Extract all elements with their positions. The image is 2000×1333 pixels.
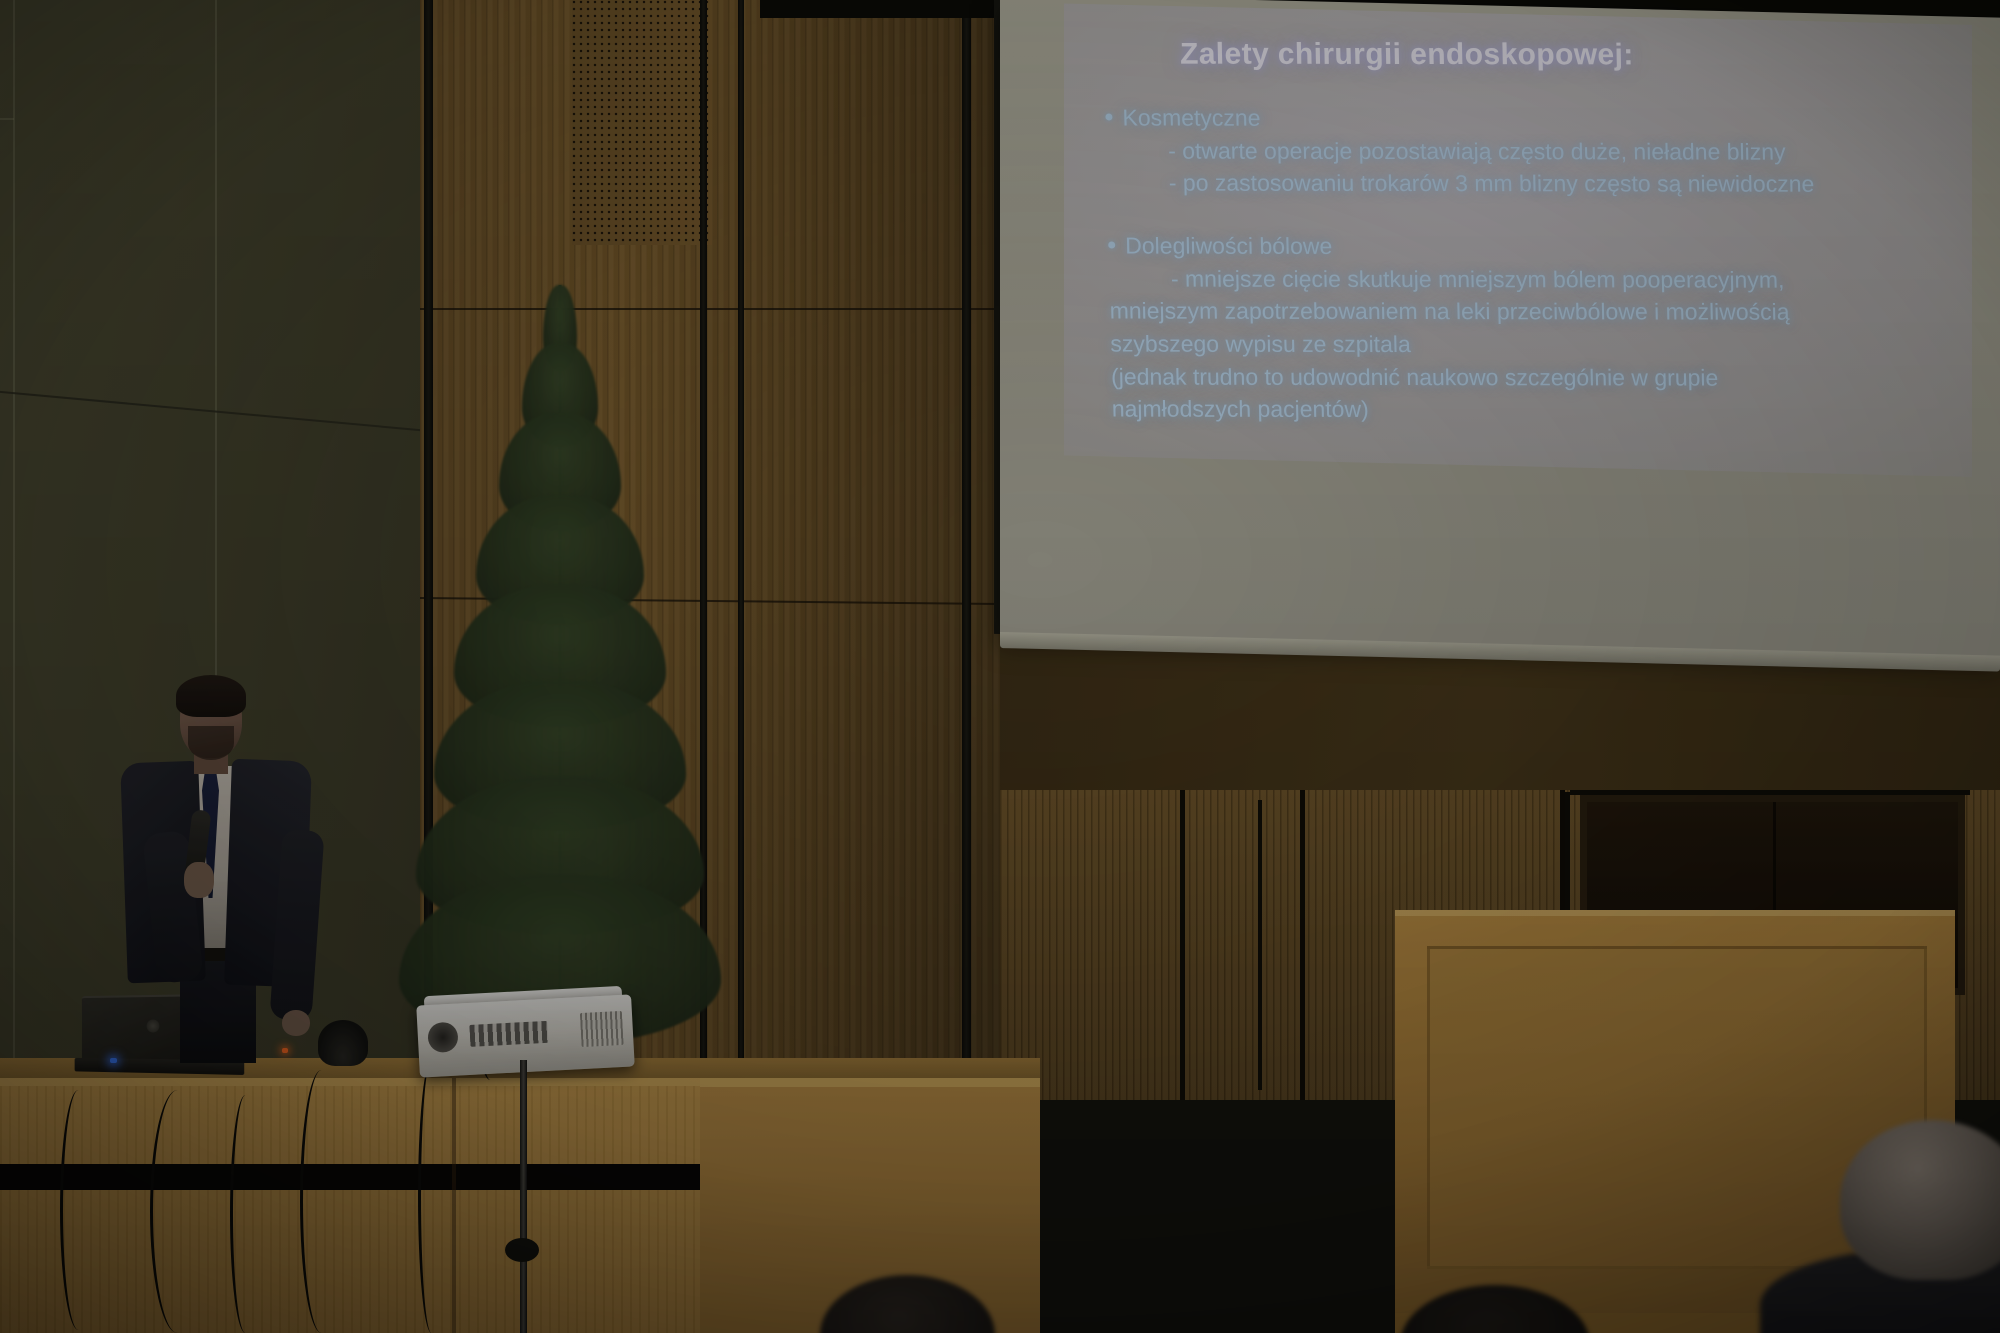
presenter-hand-right [282,1010,310,1036]
cable [60,1090,97,1330]
desk-lip [700,1078,1040,1087]
presenter-hand-left [184,862,214,898]
slide-bullet-1-sub-2: - po zastosowaniu trokarów 3 mm blizny c… [1107,167,1968,201]
wall-mullion [962,0,971,1090]
projection-screen: Zalety chirurgii endoskopowej: Kosmetycz… [1000,0,2000,658]
slide-bullet-2-text: Dolegliwości bólowe [1125,232,1333,258]
wall-seam [0,118,14,120]
presenter [118,680,318,1080]
slide-bullet-1-text: Kosmetyczne [1122,104,1261,130]
wall-conduit [1570,790,1970,795]
panel-divider [1300,790,1305,1100]
desk-panel-seam [452,1078,456,1333]
perforated-acoustic-panel [572,0,712,245]
cable [150,1090,205,1333]
bullet-dot-icon [1108,241,1115,248]
slide-bullet-1: Kosmetyczne [1105,101,1966,135]
wall-mullion [738,0,744,1090]
wall-conduit [1258,800,1262,1090]
lecture-hall-scene: Zalety chirurgii endoskopowej: Kosmetycz… [0,0,2000,1333]
projector-ports [469,1021,548,1047]
laptop-power-led [110,1058,117,1063]
slide-bullet-2-sub-4: (jednak trudno to udowodnić naukowo szcz… [1111,360,1972,394]
projector-tripod-stand [520,1060,527,1333]
presenter-beard [188,726,234,760]
microphone-base [318,1020,368,1066]
wall-conduit [1180,800,1184,1090]
projector-stand-knob [505,1238,539,1262]
slide-bullet-2-sub-5: najmłodszych pacjentów) [1111,393,1972,427]
projected-slide: Zalety chirurgii endoskopowej: Kosmetycz… [1064,4,1972,477]
slide-bullet-2-sub-3: szybszego wypisu ze szpitala [1110,327,1971,361]
presenter-hair [176,675,246,717]
screen-surface: Zalety chirurgii endoskopowej: Kosmetycz… [1000,0,2000,658]
christmas-tree [395,285,725,1075]
slide-bullet-2-sub-2: mniejszym zapotrzebowaniem na leki przec… [1109,295,1970,329]
cable [230,1095,261,1333]
slide-title: Zalety chirurgii endoskopowej: [1180,38,1634,73]
cable [418,1060,445,1333]
cable [300,1070,343,1333]
slide-body: Kosmetyczne - otwarte operacje pozostawi… [1105,101,1972,426]
slide-bullet-1-sub-1: - otwarte operacje pozostawiają często d… [1106,134,1967,168]
slide-bullet-2: Dolegliwości bólowe [1108,229,1969,263]
slide-bullet-2-sub-1: - mniejsze cięcie skutkuje mniejszym ból… [1109,262,1970,296]
projector-lens [427,1022,459,1054]
wall-seam [13,0,15,1080]
projector-vent [580,1011,624,1047]
bullet-dot-icon [1105,113,1112,120]
